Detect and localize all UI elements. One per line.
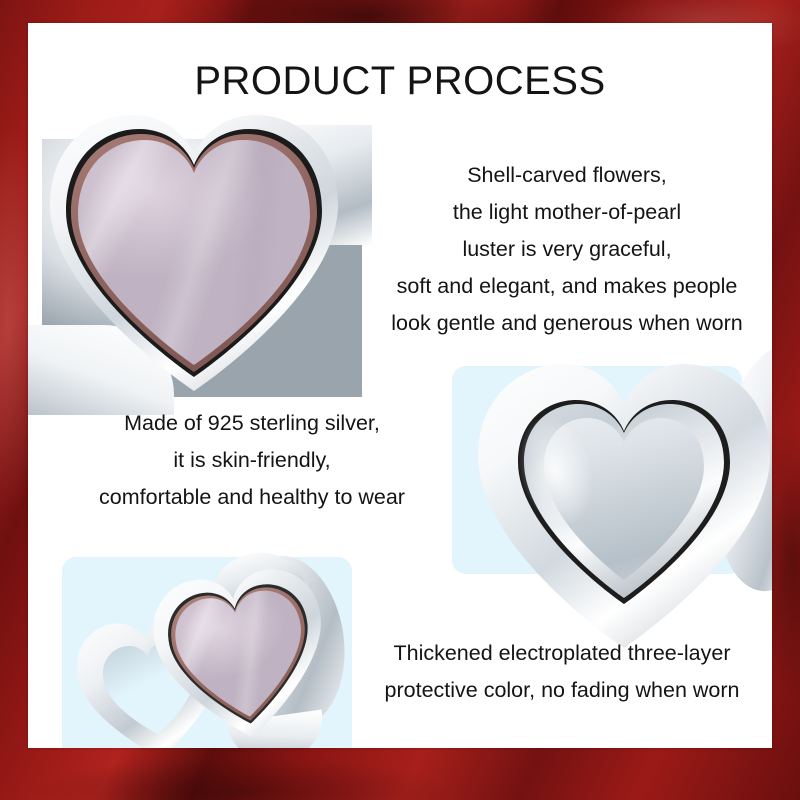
feature-text-sterling-silver: Made of 925 sterling silver, it is skin-… xyxy=(50,405,454,516)
feature-line: look gentle and generous when worn xyxy=(365,305,769,342)
photo-panel-heart-outline xyxy=(452,366,742,574)
product-infographic: PRODUCT PROCESS Shell-carved flowers, th… xyxy=(0,0,800,800)
heart-closeup-stage xyxy=(46,147,336,375)
feature-line: protective color, no fading when worn xyxy=(352,672,772,709)
feature-line: Made of 925 sterling silver, xyxy=(50,405,454,442)
feature-line: luster is very graceful, xyxy=(365,231,769,268)
feature-text-electroplated: Thickened electroplated three-layer prot… xyxy=(352,635,772,709)
double-heart-ring-artwork xyxy=(56,547,359,748)
content-card: PRODUCT PROCESS Shell-carved flowers, th… xyxy=(28,23,772,748)
feature-line: the light mother-of-pearl xyxy=(365,194,769,231)
feature-line: it is skin-friendly, xyxy=(50,442,454,479)
heart-outline-stage xyxy=(452,366,742,574)
feature-text-shell-carved: Shell-carved flowers, the light mother-o… xyxy=(365,157,769,342)
page-title: PRODUCT PROCESS xyxy=(28,59,772,104)
feature-line: Thickened electroplated three-layer xyxy=(352,635,772,672)
heart-outline-artwork xyxy=(474,352,772,610)
feature-line: soft and elegant, and makes people xyxy=(365,268,769,305)
heart-closeup-artwork xyxy=(36,135,366,397)
feature-line: comfortable and healthy to wear xyxy=(50,479,454,516)
feature-line: Shell-carved flowers, xyxy=(365,157,769,194)
photo-panel-heart-closeup xyxy=(46,147,336,375)
photo-panel-double-heart-ring xyxy=(62,557,352,748)
double-heart-ring-stage xyxy=(62,557,352,748)
